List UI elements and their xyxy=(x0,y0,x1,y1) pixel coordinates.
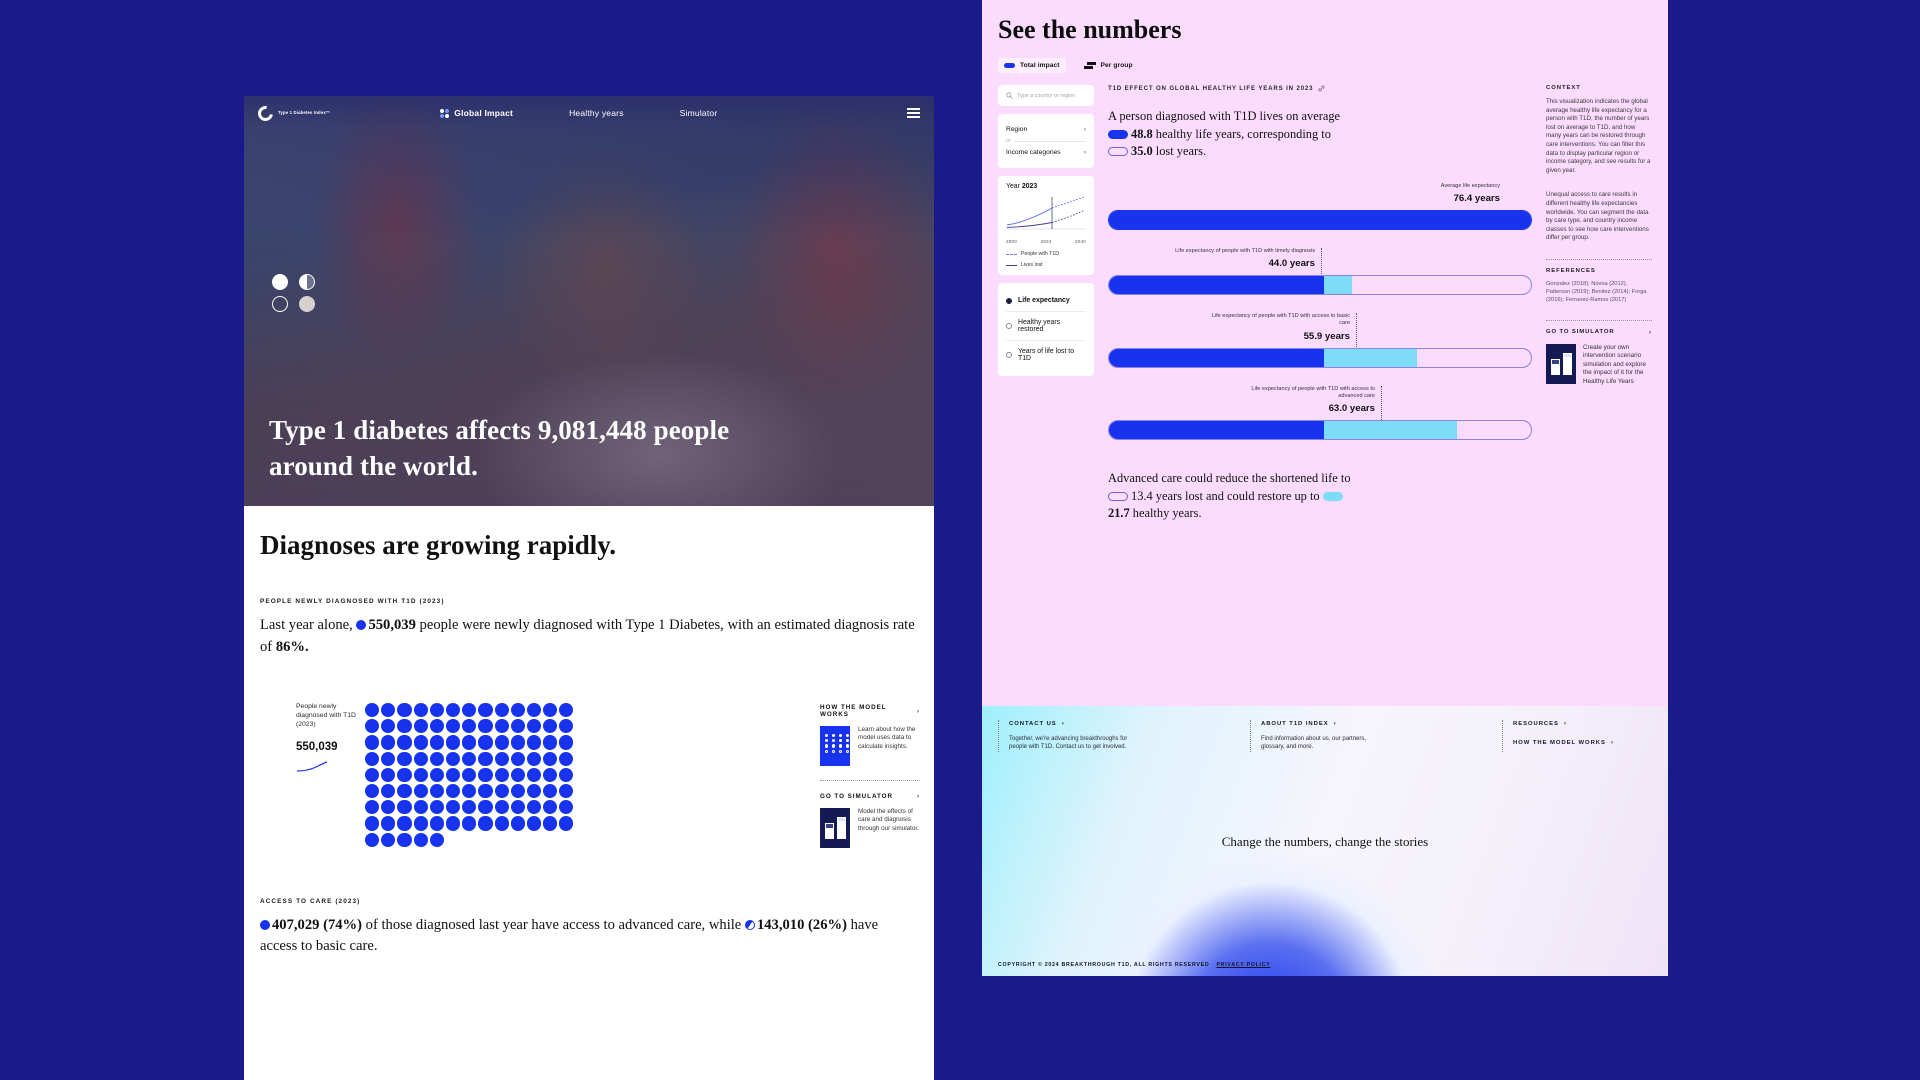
viz-lead-value-1: 48.8 xyxy=(1131,127,1153,141)
waffle-dot xyxy=(445,734,461,750)
context-simulator-card[interactable]: Create your own intervention scenario si… xyxy=(1546,344,1652,386)
metric-life-expectancy[interactable]: Life expectancy xyxy=(1006,290,1086,311)
axis-tick: 2040 xyxy=(1075,239,1086,244)
site-logo[interactable]: Type 1 Diabetes Index™ xyxy=(258,106,330,121)
logo-mark-icon xyxy=(255,103,276,124)
waffle-dot xyxy=(429,815,445,831)
bar-tick xyxy=(1381,386,1382,424)
context-panel: CONTEXT This visualization indicates the… xyxy=(1546,85,1652,523)
tab-label: Per group xyxy=(1101,62,1133,69)
nav-links: Global Impact Healthy years Simulator xyxy=(440,108,717,118)
bar-value: 44.0 years xyxy=(1166,258,1321,269)
search-icon xyxy=(1006,92,1013,99)
right-header: See the numbers Total impact Per group xyxy=(982,0,1668,73)
waffle-dot xyxy=(380,718,396,734)
bar-segment-blue xyxy=(1109,421,1324,439)
tab-total-impact[interactable]: Total impact xyxy=(998,58,1066,73)
year-value: 2023 xyxy=(1022,183,1037,190)
waffle-dot xyxy=(445,767,461,783)
waffle-dot xyxy=(558,718,574,734)
chevron-right-icon: › xyxy=(1649,329,1652,336)
viz-lead: A person diagnosed with T1D lives on ave… xyxy=(1108,108,1532,161)
context-head: CONTEXT xyxy=(1546,85,1652,91)
bar-chart-thumbnail-icon xyxy=(1546,344,1576,384)
footer-head-label: RESOURCES xyxy=(1513,721,1559,727)
waffle-dot xyxy=(510,815,526,831)
waffle-dot xyxy=(380,783,396,799)
filter-region[interactable]: Region › xyxy=(1006,121,1086,138)
waffle-dot xyxy=(380,815,396,831)
side-rail: HOW THE MODEL WORKS › Learn about how th… xyxy=(820,704,920,848)
waffle-dot xyxy=(380,751,396,767)
waffle-dot xyxy=(364,734,380,750)
waffle-dot xyxy=(477,815,493,831)
waffle-dot xyxy=(445,799,461,815)
waffle-dot xyxy=(510,799,526,815)
footer-link-resources[interactable]: RESOURCES › xyxy=(1513,720,1652,727)
diagnosed-block: PEOPLE NEWLY DIAGNOSED WITH T1D (2023) L… xyxy=(260,598,918,658)
waffle-dot xyxy=(526,734,542,750)
waffle-dot xyxy=(396,751,412,767)
waffle-dot xyxy=(429,783,445,799)
axis-tick: 2024 xyxy=(1040,239,1051,244)
waffle-dot xyxy=(364,832,380,848)
viz-footer-value-2: 21.7 xyxy=(1108,506,1130,520)
filter-income-categories[interactable]: Income categories › xyxy=(1006,144,1086,161)
waffle-dot xyxy=(364,783,380,799)
bar-caption: Life expectancy of people with T1D with … xyxy=(1201,313,1356,328)
waffle-dot xyxy=(429,832,445,848)
diagnosed-value-1: 550,039 xyxy=(368,617,415,633)
rail-head-label: GO TO SIMULATOR xyxy=(820,793,893,800)
sparkline-icon xyxy=(296,761,328,773)
viz-footer-text-2: years lost and could restore up to xyxy=(1156,489,1320,503)
bar-value: 55.9 years xyxy=(1201,331,1356,342)
dashed-line-icon xyxy=(1006,254,1017,255)
bar-segment-blue xyxy=(1109,349,1324,367)
footer-columns: CONTACT US › Together, we're advancing b… xyxy=(982,706,1668,752)
waffle-dot xyxy=(429,734,445,750)
logo-text: Type 1 Diabetes Index™ xyxy=(278,110,330,116)
chevron-right-icon: › xyxy=(1564,720,1567,727)
rail-body-model: Learn about how the model uses data to c… xyxy=(858,726,920,766)
waffle-dot xyxy=(494,799,510,815)
waffle-dot xyxy=(380,799,396,815)
context-divider xyxy=(1546,320,1652,321)
right-main: Type a country or region Region › or Inc… xyxy=(982,73,1668,523)
waffle-dot xyxy=(413,751,429,767)
bar-value: 76.4 years xyxy=(1108,193,1532,204)
waffle-dot xyxy=(542,702,558,718)
year-trend-chart xyxy=(1006,195,1086,233)
metric-healthy-years-restored[interactable]: Healthy years restored xyxy=(1006,311,1086,340)
diagnosed-value-2: 86%. xyxy=(276,639,309,655)
waffle-dot xyxy=(364,815,380,831)
waffle-dot xyxy=(413,767,429,783)
footer-about-link[interactable]: ABOUT T1D INDEX › xyxy=(1261,720,1502,727)
waffle-dot xyxy=(364,767,380,783)
solid-line-icon xyxy=(1006,265,1017,266)
link-icon[interactable] xyxy=(1318,85,1325,92)
waffle-dot xyxy=(510,751,526,767)
bar-segment-cyan xyxy=(1324,349,1417,367)
waffle-dot xyxy=(364,751,380,767)
waffle-dot xyxy=(364,718,380,734)
waffle-dot xyxy=(542,783,558,799)
waffle-dot xyxy=(429,702,445,718)
viz-lead-text-1: A person diagnosed with T1D lives on ave… xyxy=(1108,109,1340,123)
viz-lead-text-2: healthy life years, corresponding to xyxy=(1156,127,1331,141)
waffle-dot xyxy=(510,702,526,718)
waffle-dot xyxy=(494,702,510,718)
context-paragraph-2: Unequal access to care results in differ… xyxy=(1546,191,1652,243)
waffle-dot xyxy=(380,734,396,750)
bar-segment-cyan xyxy=(1324,276,1352,294)
bar-segment-blue xyxy=(1109,276,1324,294)
waffle-dot xyxy=(396,783,412,799)
bar-tick xyxy=(1356,313,1357,351)
waffle-dot xyxy=(526,783,542,799)
grid-dots-icon xyxy=(440,109,449,118)
pill-icon xyxy=(1004,63,1015,68)
region-card: Region › or Income categories › xyxy=(998,114,1094,168)
waffle-legend: People newly diagnosed with T1D (2023) 5… xyxy=(260,702,360,848)
radio-selected-icon xyxy=(1006,298,1012,304)
legend-item-lives-lost: Lives lost xyxy=(1006,262,1086,268)
waffle-dot xyxy=(364,799,380,815)
year-chart-legend: People with T1D Lives lost xyxy=(1006,251,1086,268)
bar-group-timely-diagnosis: Life expectancy of people with T1D with … xyxy=(1108,248,1532,295)
bar-value: 63.0 years xyxy=(1226,403,1381,414)
page-title: See the numbers xyxy=(998,14,1652,46)
year-axis-ticks: 2000 2024 2040 xyxy=(1006,239,1086,244)
diagnosed-paragraph: Last year alone, 550,039 people were new… xyxy=(260,615,918,658)
footer-tagline: Change the numbers, change the stories xyxy=(982,834,1668,850)
waffle-dot xyxy=(526,718,542,734)
metric-label: Years of life lost to T1D xyxy=(1018,348,1086,362)
half-dot-icon xyxy=(745,920,755,930)
bar-track-average xyxy=(1108,210,1532,230)
footer-link-how-model-works[interactable]: HOW THE MODEL WORKS › xyxy=(1513,739,1652,746)
blue-dot-icon xyxy=(260,920,270,930)
visualization-panel: T1D EFFECT ON GLOBAL HEALTHY LIFE YEARS … xyxy=(1108,85,1532,523)
radio-icon xyxy=(1006,323,1012,329)
waffle-dot-grid xyxy=(364,702,574,848)
waffle-dot xyxy=(494,767,510,783)
waffle-dot xyxy=(542,734,558,750)
global-impact-window: Type 1 Diabetes Index™ Global Impact Hea… xyxy=(244,96,934,1080)
waffle-dot xyxy=(413,832,429,848)
filter-panel: Type a country or region Region › or Inc… xyxy=(998,85,1094,523)
hollow-pill-icon xyxy=(1108,492,1128,501)
bar-segment-blue xyxy=(1109,211,1531,229)
search-placeholder: Type a country or region xyxy=(1017,93,1075,99)
waffle-dot xyxy=(461,751,477,767)
hero-decorative-marks xyxy=(272,274,319,312)
waffle-dot xyxy=(461,734,477,750)
privacy-policy-link[interactable]: PRIVACY POLICY xyxy=(1216,962,1270,968)
chevron-right-icon: › xyxy=(1334,720,1337,727)
see-the-numbers-window: See the numbers Total impact Per group xyxy=(982,0,1668,976)
cyan-pill-icon xyxy=(1323,492,1343,501)
tab-per-group[interactable]: Per group xyxy=(1078,58,1139,73)
viz-footer-text-1: Advanced care could reduce the shortened… xyxy=(1108,471,1351,485)
bar-group-basic-care: Life expectancy of people with T1D with … xyxy=(1108,313,1532,368)
waffle-dot xyxy=(445,718,461,734)
access-paragraph: 407,029 (74%) of those diagnosed last ye… xyxy=(260,915,918,958)
waffle-dot xyxy=(461,815,477,831)
or-label: or xyxy=(1006,138,1010,144)
waffle-dot xyxy=(494,783,510,799)
waffle-dot xyxy=(380,702,396,718)
legend-label: Lives lost xyxy=(1021,262,1043,268)
waffle-dot xyxy=(510,783,526,799)
viz-lead-value-2: 35.0 xyxy=(1131,144,1153,158)
nav-item-simulator[interactable]: Simulator xyxy=(680,108,718,118)
waffle-dot xyxy=(526,815,542,831)
right-footer: CONTACT US › Together, we're advancing b… xyxy=(982,706,1668,976)
bar-caption: Average life expectancy xyxy=(1108,183,1532,190)
context-simulator-body: Create your own intervention scenario si… xyxy=(1583,344,1652,386)
chevron-right-icon: › xyxy=(1611,739,1614,746)
rail-card-simulator[interactable]: GO TO SIMULATOR › Model the effects of c… xyxy=(820,793,920,848)
copyright-text: COPYRIGHT © 2024 BREAKTHROUGH T1D, ALL R… xyxy=(998,962,1209,968)
waffle-dot xyxy=(461,783,477,799)
hero-title: Type 1 diabetes affects 9,081,448 people… xyxy=(269,412,779,484)
waffle-dot xyxy=(396,832,412,848)
chevron-right-icon: › xyxy=(1084,126,1086,133)
waffle-dot xyxy=(477,783,493,799)
waffle-dot xyxy=(526,751,542,767)
footer-col-links: RESOURCES › HOW THE MODEL WORKS › xyxy=(1502,720,1652,752)
waffle-dot xyxy=(413,815,429,831)
waffle-dot xyxy=(396,799,412,815)
waffle-dot xyxy=(413,734,429,750)
rail-body-simulator: Model the effects of care and diagnosis … xyxy=(858,808,920,848)
radio-icon xyxy=(1006,352,1012,358)
hollow-pill-icon xyxy=(1108,147,1128,156)
dot-grid-thumbnail-icon xyxy=(820,726,850,766)
waffle-dot xyxy=(461,702,477,718)
waffle-dot xyxy=(461,767,477,783)
metric-years-of-life-lost[interactable]: Years of life lost to T1D xyxy=(1006,340,1086,369)
year-title: Year 2023 xyxy=(1006,183,1086,190)
viz-eyebrow-label: T1D EFFECT ON GLOBAL HEALTHY LIFE YEARS … xyxy=(1108,85,1313,92)
rows-icon xyxy=(1084,62,1096,69)
bar-segment-cyan xyxy=(1324,421,1457,439)
bar-track-basic-care xyxy=(1108,348,1532,368)
waffle-dot xyxy=(558,783,574,799)
rail-head-simulator[interactable]: GO TO SIMULATOR › xyxy=(820,793,920,800)
context-divider xyxy=(1546,259,1652,260)
waffle-dot xyxy=(413,799,429,815)
blue-dot-icon xyxy=(356,620,366,630)
metric-label: Life expectancy xyxy=(1018,297,1070,304)
year-prefix: Year xyxy=(1006,183,1022,190)
waffle-dot xyxy=(542,799,558,815)
viz-eyebrow: T1D EFFECT ON GLOBAL HEALTHY LIFE YEARS … xyxy=(1108,85,1532,92)
references-head: REFERENCES xyxy=(1546,268,1652,274)
waffle-dot xyxy=(477,718,493,734)
waffle-dot xyxy=(429,767,445,783)
rail-card-model[interactable]: HOW THE MODEL WORKS › Learn about how th… xyxy=(820,704,920,766)
chevron-right-icon: › xyxy=(917,708,920,715)
waffle-legend-value: 550,039 xyxy=(296,741,360,753)
waffle-dot xyxy=(477,799,493,815)
footer-col-about: ABOUT T1D INDEX › Find information about… xyxy=(1250,720,1502,752)
metric-label: Healthy years restored xyxy=(1018,319,1086,333)
waffle-dot xyxy=(526,702,542,718)
viz-footer-value-1: 13.4 xyxy=(1131,489,1153,503)
tab-label: Total impact xyxy=(1020,62,1060,69)
waffle-dot xyxy=(494,734,510,750)
access-eyebrow: ACCESS TO CARE (2023) xyxy=(260,898,918,905)
waffle-dot xyxy=(413,702,429,718)
legend-label: People with T1D xyxy=(1021,251,1059,257)
waffle-dot xyxy=(429,751,445,767)
nav-item-healthy-years[interactable]: Healthy years xyxy=(569,108,624,118)
waffle-dot xyxy=(380,832,396,848)
waffle-dot xyxy=(445,702,461,718)
waffle-dot xyxy=(558,767,574,783)
footer-head-label: ABOUT T1D INDEX xyxy=(1261,721,1329,727)
context-paragraph-1: This visualization indicates the global … xyxy=(1546,98,1652,175)
waffle-dot xyxy=(558,799,574,815)
nav-item-global-impact[interactable]: Global Impact xyxy=(440,108,513,118)
waffle-dot xyxy=(510,767,526,783)
waffle-dot xyxy=(413,783,429,799)
context-simulator-label: GO TO SIMULATOR xyxy=(1546,329,1614,335)
bar-group-advanced-care: Life expectancy of people with T1D with … xyxy=(1108,386,1532,441)
legend-item-people-with-t1d: People with T1D xyxy=(1006,251,1086,257)
waffle-dot xyxy=(396,702,412,718)
footer-legal: COPYRIGHT © 2024 BREAKTHROUGH T1D, ALL R… xyxy=(998,962,1271,968)
viz-footer-text-3: healthy years. xyxy=(1133,506,1202,520)
nav-item-label: Global Impact xyxy=(454,108,513,118)
waffle-dot xyxy=(477,734,493,750)
access-value-1: 407,029 (74%) xyxy=(272,917,362,933)
view-tabs: Total impact Per group xyxy=(998,58,1652,73)
blue-pill-icon xyxy=(1108,130,1128,139)
footer-about-body: Find information about us, our partners,… xyxy=(1261,735,1381,752)
rail-divider xyxy=(820,780,920,781)
access-text-1: of those diagnosed last year have access… xyxy=(366,917,742,933)
waffle-dot xyxy=(542,718,558,734)
waffle-dot xyxy=(461,718,477,734)
rail-head-label: HOW THE MODEL WORKS xyxy=(820,704,917,718)
waffle-dot xyxy=(494,718,510,734)
access-to-care-block: ACCESS TO CARE (2023) 407,029 (74%) of t… xyxy=(260,898,918,958)
footer-col-contact: CONTACT US › Together, we're advancing b… xyxy=(998,720,1250,752)
bar-caption: Life expectancy of people with T1D with … xyxy=(1226,386,1381,401)
top-navigation: Type 1 Diabetes Index™ Global Impact Hea… xyxy=(244,96,934,130)
waffle-dot xyxy=(364,702,380,718)
bar-chart-thumbnail-icon xyxy=(820,808,850,848)
footer-contact-body: Together, we're advancing breakthroughs … xyxy=(1009,735,1129,752)
rail-head-model[interactable]: HOW THE MODEL WORKS › xyxy=(820,704,920,718)
filter-income-label: Income categories xyxy=(1006,149,1061,156)
circle-half-icon xyxy=(299,274,315,290)
hero-section: Type 1 Diabetes Index™ Global Impact Hea… xyxy=(244,96,934,506)
waffle-dot xyxy=(558,815,574,831)
waffle-dot xyxy=(510,734,526,750)
waffle-dot xyxy=(542,751,558,767)
waffle-dot xyxy=(526,767,542,783)
waffle-dot xyxy=(396,718,412,734)
metric-card: Life expectancy Healthy years restored Y… xyxy=(998,283,1094,376)
search-card: Type a country or region xyxy=(998,85,1094,106)
bar-track-timely-diagnosis xyxy=(1108,275,1532,295)
waffle-dot xyxy=(526,799,542,815)
waffle-dot xyxy=(494,751,510,767)
waffle-dot xyxy=(461,799,477,815)
viz-lead-text-3: lost years. xyxy=(1156,144,1206,158)
waffle-dot xyxy=(542,767,558,783)
diagnosed-text-1: Last year alone, xyxy=(260,617,353,633)
references-body: Gonzalez (2018); Novoa (2012), Patterson… xyxy=(1546,280,1652,304)
footer-head-label: CONTACT US xyxy=(1009,721,1057,727)
waffle-dot xyxy=(445,815,461,831)
circle-grey-icon xyxy=(299,296,315,312)
access-value-2: 143,010 (26%) xyxy=(757,917,847,933)
waffle-dot xyxy=(380,767,396,783)
section-title: Diagnoses are growing rapidly. xyxy=(260,528,918,562)
waffle-dot xyxy=(396,767,412,783)
waffle-dot xyxy=(510,718,526,734)
footer-contact-link[interactable]: CONTACT US › xyxy=(1009,720,1250,727)
waffle-dot xyxy=(429,799,445,815)
circle-full-icon xyxy=(272,274,288,290)
footer-head-label: HOW THE MODEL WORKS xyxy=(1513,740,1606,746)
waffle-dot xyxy=(477,767,493,783)
waffle-dot xyxy=(396,734,412,750)
menu-icon[interactable] xyxy=(907,108,920,117)
waffle-dot xyxy=(429,718,445,734)
filter-region-label: Region xyxy=(1006,126,1027,133)
search-input[interactable]: Type a country or region xyxy=(1006,92,1086,99)
chevron-right-icon: › xyxy=(1062,720,1065,727)
bar-group-average: Average life expectancy 76.4 years xyxy=(1108,183,1532,230)
waffle-dot xyxy=(445,751,461,767)
year-card[interactable]: Year 2023 2000 2024 2040 xyxy=(998,176,1094,275)
waffle-dot xyxy=(558,702,574,718)
circle-outline-icon xyxy=(272,296,288,312)
context-simulator-link[interactable]: GO TO SIMULATOR › xyxy=(1546,329,1652,336)
waffle-legend-label: People newly diagnosed with T1D (2023) xyxy=(296,702,360,729)
viz-footer-text: Advanced care could reduce the shortened… xyxy=(1108,470,1532,523)
axis-tick: 2000 xyxy=(1006,239,1017,244)
chevron-right-icon: › xyxy=(917,793,920,800)
waffle-dot xyxy=(542,815,558,831)
waffle-dot xyxy=(477,751,493,767)
waffle-dot xyxy=(558,751,574,767)
waffle-dot xyxy=(445,783,461,799)
waffle-dot xyxy=(477,702,493,718)
bar-track-advanced-care xyxy=(1108,420,1532,440)
waffle-dot xyxy=(558,734,574,750)
waffle-dot xyxy=(494,815,510,831)
bar-caption: Life expectancy of people with T1D with … xyxy=(1166,248,1321,255)
diagnosed-eyebrow: PEOPLE NEWLY DIAGNOSED WITH T1D (2023) xyxy=(260,598,918,605)
chevron-right-icon: › xyxy=(1084,149,1086,156)
waffle-dot xyxy=(413,718,429,734)
waffle-dot xyxy=(396,815,412,831)
